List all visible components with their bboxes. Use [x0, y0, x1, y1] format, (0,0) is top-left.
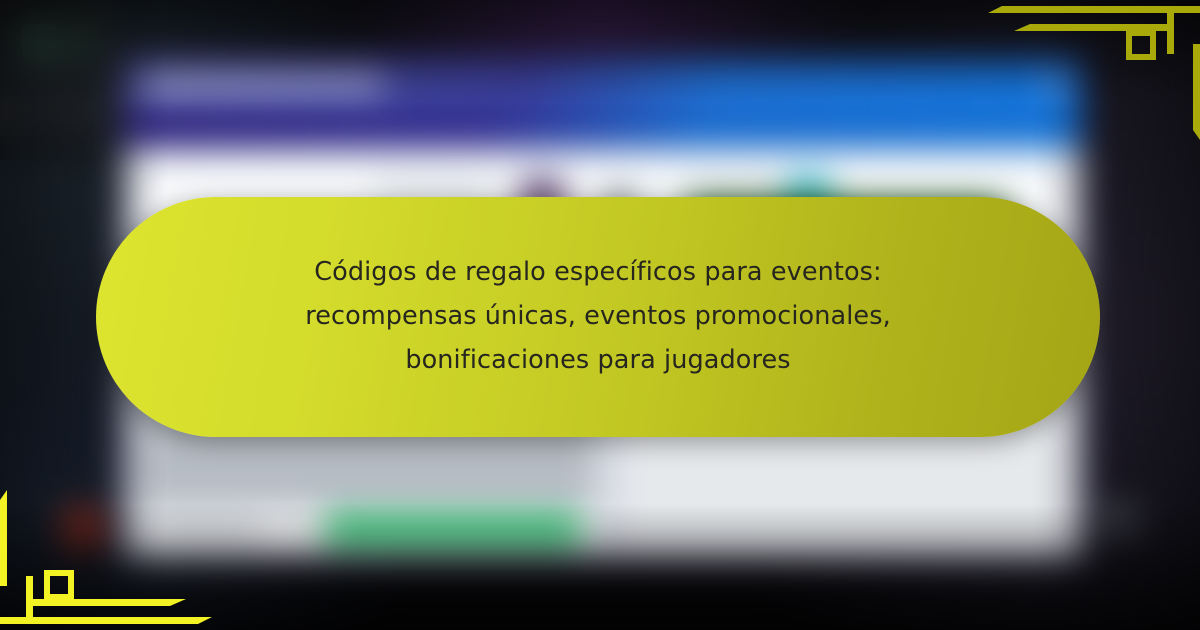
corner-ornament-bottom-left-bar-2	[26, 599, 186, 606]
corner-ornament-top-right-stem-2	[1193, 44, 1200, 140]
headline-banner: Códigos de regalo específicos para event…	[96, 197, 1100, 437]
corner-ornament-bottom-left-square	[44, 570, 74, 600]
corner-ornament-top-right-stem-1	[1167, 6, 1174, 54]
corner-ornament-top-right-square	[1126, 30, 1156, 60]
headline-text: Códigos de regalo específicos para event…	[213, 251, 983, 383]
corner-ornament-bottom-left-stem-2	[0, 490, 7, 586]
corner-ornament-bottom-left-stem-1	[26, 576, 33, 624]
